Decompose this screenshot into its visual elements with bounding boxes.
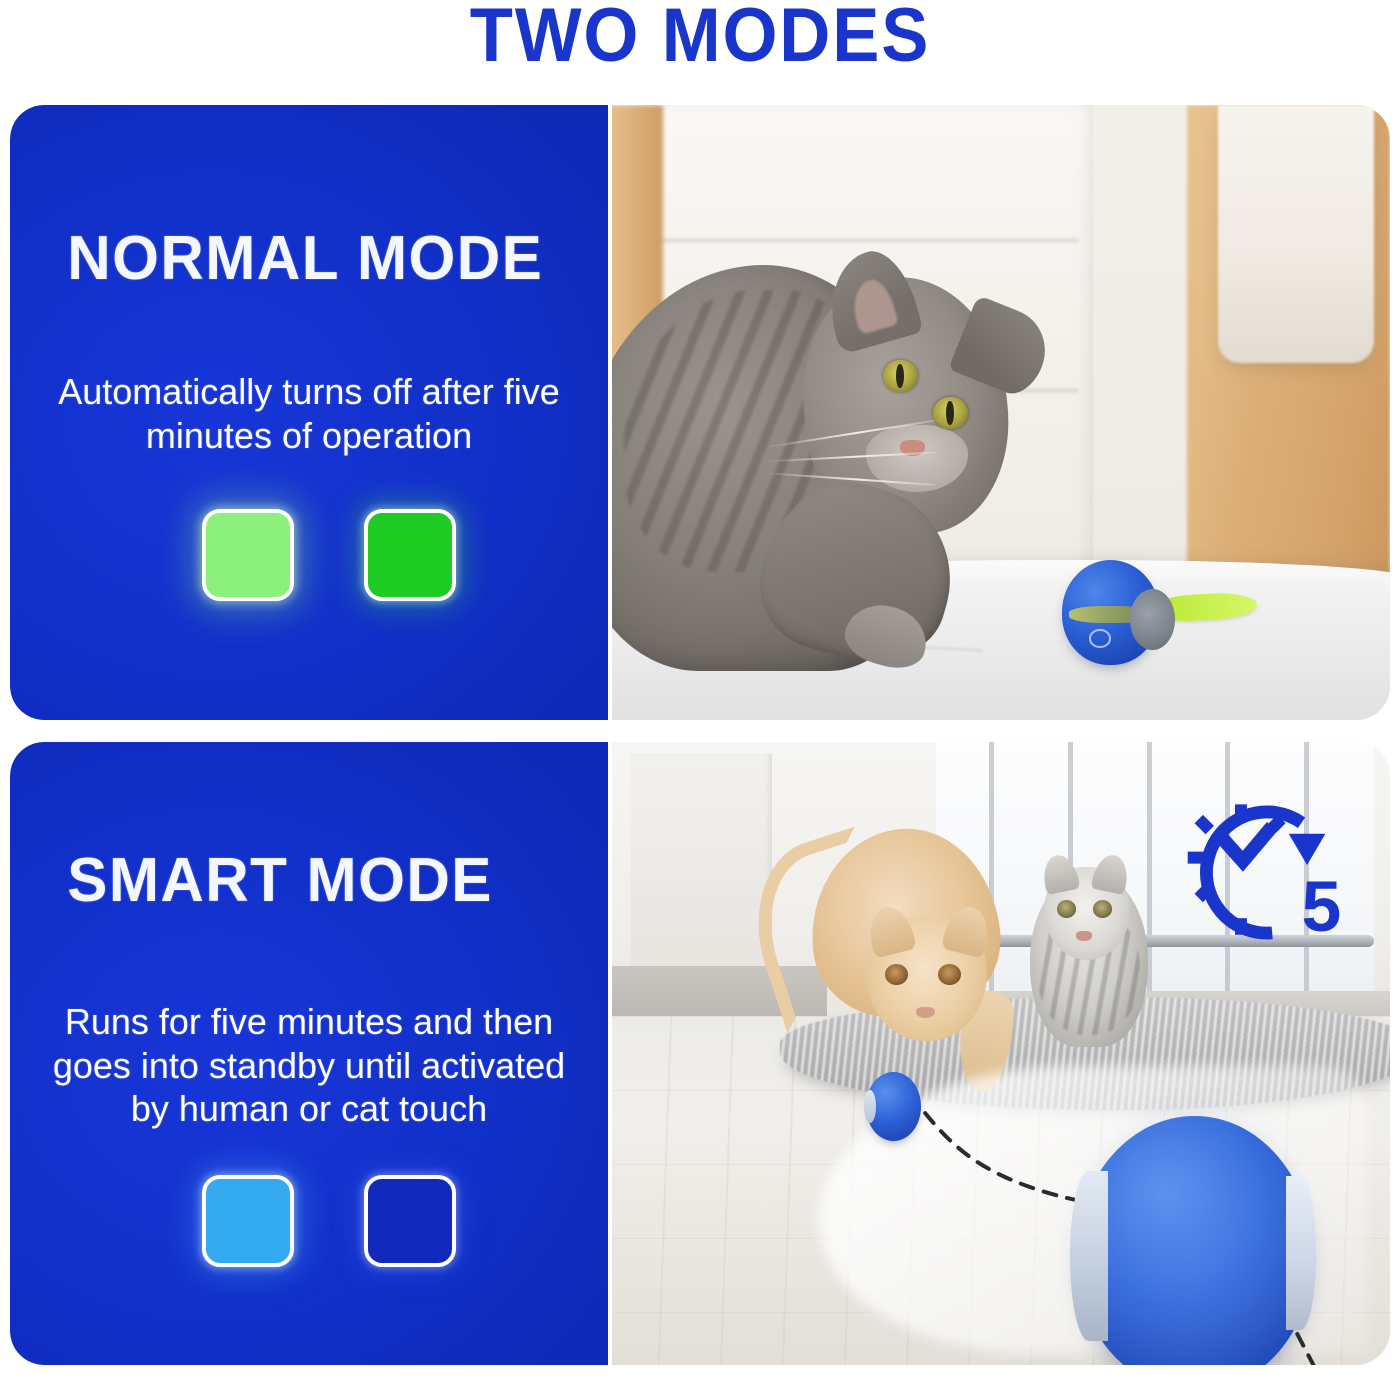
timer-minutes-label: 5 — [1301, 867, 1341, 947]
orange-cat-eye-left — [885, 964, 908, 985]
smart-mode-swatch-row — [44, 1175, 574, 1267]
swatch-light-blue[interactable] — [202, 1175, 294, 1267]
blue-ball-toy-large — [1077, 1116, 1312, 1365]
toy-wheel — [1130, 589, 1175, 650]
background-chair — [1218, 105, 1374, 363]
normal-mode-photo — [608, 105, 1390, 720]
blue-ball-toy-small — [866, 1072, 921, 1141]
smart-mode-heading: SMART MODE — [44, 850, 558, 912]
normal-mode-swatch-row — [44, 509, 574, 601]
blue-ball-toy — [1062, 560, 1160, 665]
toy-power-button-icon — [1089, 629, 1111, 648]
panel-photo-divider — [608, 742, 612, 1365]
grey-cat-eye-right — [933, 397, 967, 429]
normal-mode-heading: NORMAL MODE — [44, 228, 558, 290]
normal-mode-row: NORMAL MODE Automatically turns off afte… — [10, 105, 1390, 720]
smart-mode-description: Runs for five minutes and then goes into… — [44, 1000, 574, 1132]
swatch-dark-blue[interactable] — [364, 1175, 456, 1267]
clock-timer-icon: 5 — [1154, 786, 1357, 960]
smart-mode-row: SMART MODE Runs for five minutes and the… — [10, 742, 1390, 1365]
normal-mode-description: Automatically turns off after five minut… — [44, 370, 574, 458]
page-title: TWO MODES — [49, 0, 1351, 76]
panel-photo-divider — [608, 105, 612, 720]
swatch-bright-green[interactable] — [364, 509, 456, 601]
swatch-light-green[interactable] — [202, 509, 294, 601]
smart-mode-photo: 5 — [608, 742, 1390, 1365]
orange-cat-nose — [916, 1007, 935, 1018]
grey-cat-eye-left — [883, 360, 917, 392]
normal-mode-info-panel: NORMAL MODE Automatically turns off afte… — [10, 105, 608, 720]
smart-mode-info-panel: SMART MODE Runs for five minutes and the… — [10, 742, 608, 1365]
grey-kitten-nose — [1076, 931, 1092, 940]
toy-wheel-left — [1070, 1171, 1108, 1341]
